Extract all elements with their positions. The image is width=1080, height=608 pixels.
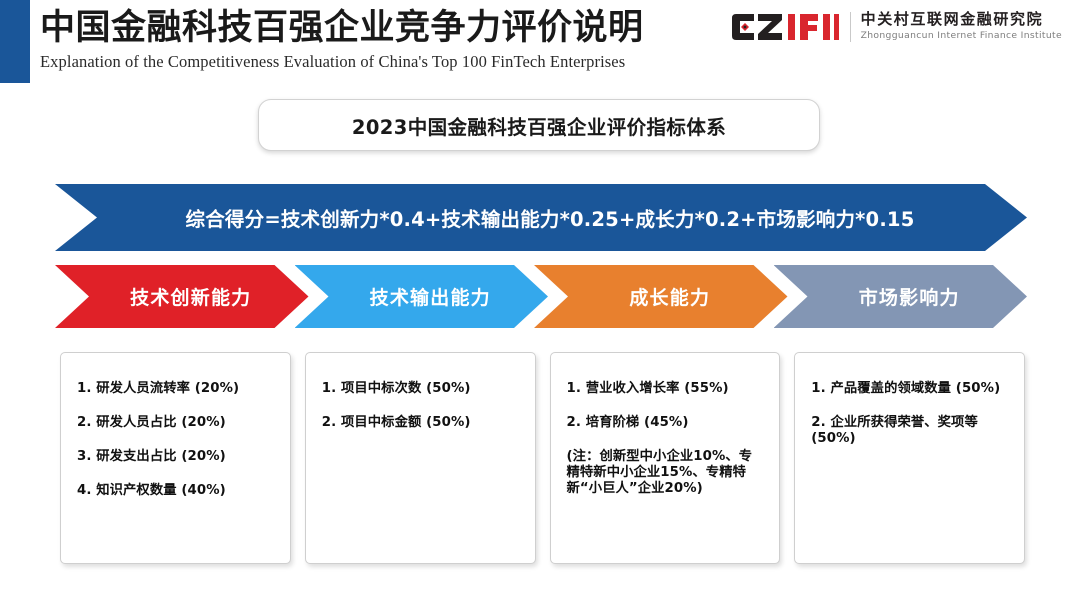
- header-accent-bar: [0, 0, 30, 83]
- indicator-line: 3. 研发支出占比 (20%): [77, 449, 276, 465]
- category-chevron-label: 成长能力: [611, 283, 710, 310]
- tech-innovation-card: 1. 研发人员流转率 (20%)2. 研发人员占比 (20%)3. 研发支出占比…: [60, 352, 291, 564]
- category-chevron-tech-output: 技术输出能力: [295, 265, 549, 328]
- title-block: 中国金融科技百强企业竞争力评价说明 Explanation of the Com…: [40, 8, 644, 72]
- indicator-line: 2. 研发人员占比 (20%): [77, 415, 276, 431]
- indicator-line: 2. 项目中标金额 (50%): [322, 415, 521, 431]
- indicator-line: 1. 研发人员流转率 (20%): [77, 381, 276, 397]
- score-formula-text: 综合得分=技术创新力*0.4+技术输出能力*0.25+成长力*0.2+市场影响力…: [168, 203, 915, 232]
- category-chevron-tech-innovation: 技术创新能力: [55, 265, 309, 328]
- indicator-line: 2. 培育阶梯 (45%): [567, 415, 766, 431]
- organization-logo: 中关村互联网金融研究院 Zhongguancun Internet Financ…: [732, 11, 1062, 42]
- framework-title-box: 2023中国金融科技百强企业评价指标体系: [258, 99, 820, 151]
- indicator-line: (注：创新型中小企业10%、专精特新中小企业15%、专精特新“小巨人”企业20%…: [567, 449, 766, 497]
- page-title: 中国金融科技百强企业竞争力评价说明: [40, 8, 644, 48]
- category-chevron-label: 技术输出能力: [352, 283, 491, 310]
- category-chevron-growth: 成长能力: [534, 265, 788, 328]
- category-chevron-market-influence: 市场影响力: [774, 265, 1028, 328]
- indicator-line: 1. 产品覆盖的领域数量 (50%): [811, 381, 1010, 397]
- indicator-line: 1. 营业收入增长率 (55%): [567, 381, 766, 397]
- tech-output-card: 1. 项目中标次数 (50%)2. 项目中标金额 (50%): [305, 352, 536, 564]
- category-chevron-label: 技术创新能力: [112, 283, 251, 310]
- category-chevron-label: 市场影响力: [841, 283, 960, 310]
- indicator-cards-row: 1. 研发人员流转率 (20%)2. 研发人员占比 (20%)3. 研发支出占比…: [60, 352, 1025, 564]
- indicator-line: 1. 项目中标次数 (50%): [322, 381, 521, 397]
- logo-org-name-en: Zhongguancun Internet Finance Institute: [861, 30, 1062, 42]
- score-formula-banner: 综合得分=技术创新力*0.4+技术输出能力*0.25+成长力*0.2+市场影响力…: [55, 184, 1027, 251]
- logo-text-block: 中关村互联网金融研究院 Zhongguancun Internet Financ…: [861, 11, 1062, 42]
- growth-card: 1. 营业收入增长率 (55%)2. 培育阶梯 (45%)(注：创新型中小企业1…: [550, 352, 781, 564]
- indicator-line: 2. 企业所获得荣誉、奖项等 (50%): [811, 415, 1010, 447]
- page-header: 中国金融科技百强企业竞争力评价说明 Explanation of the Com…: [0, 0, 1080, 92]
- market-influence-card: 1. 产品覆盖的领域数量 (50%)2. 企业所获得荣誉、奖项等 (50%): [794, 352, 1025, 564]
- indicator-line: 4. 知识产权数量 (40%): [77, 483, 276, 499]
- logo-org-name-cn: 中关村互联网金融研究院: [861, 11, 1062, 28]
- czifi-logo-icon: [732, 12, 840, 42]
- category-chevron-row: 技术创新能力技术输出能力成长能力市场影响力: [55, 265, 1027, 328]
- page-subtitle: Explanation of the Competitiveness Evalu…: [40, 52, 644, 72]
- framework-title-text: 2023中国金融科技百强企业评价指标体系: [352, 111, 726, 140]
- logo-divider: [850, 12, 851, 42]
